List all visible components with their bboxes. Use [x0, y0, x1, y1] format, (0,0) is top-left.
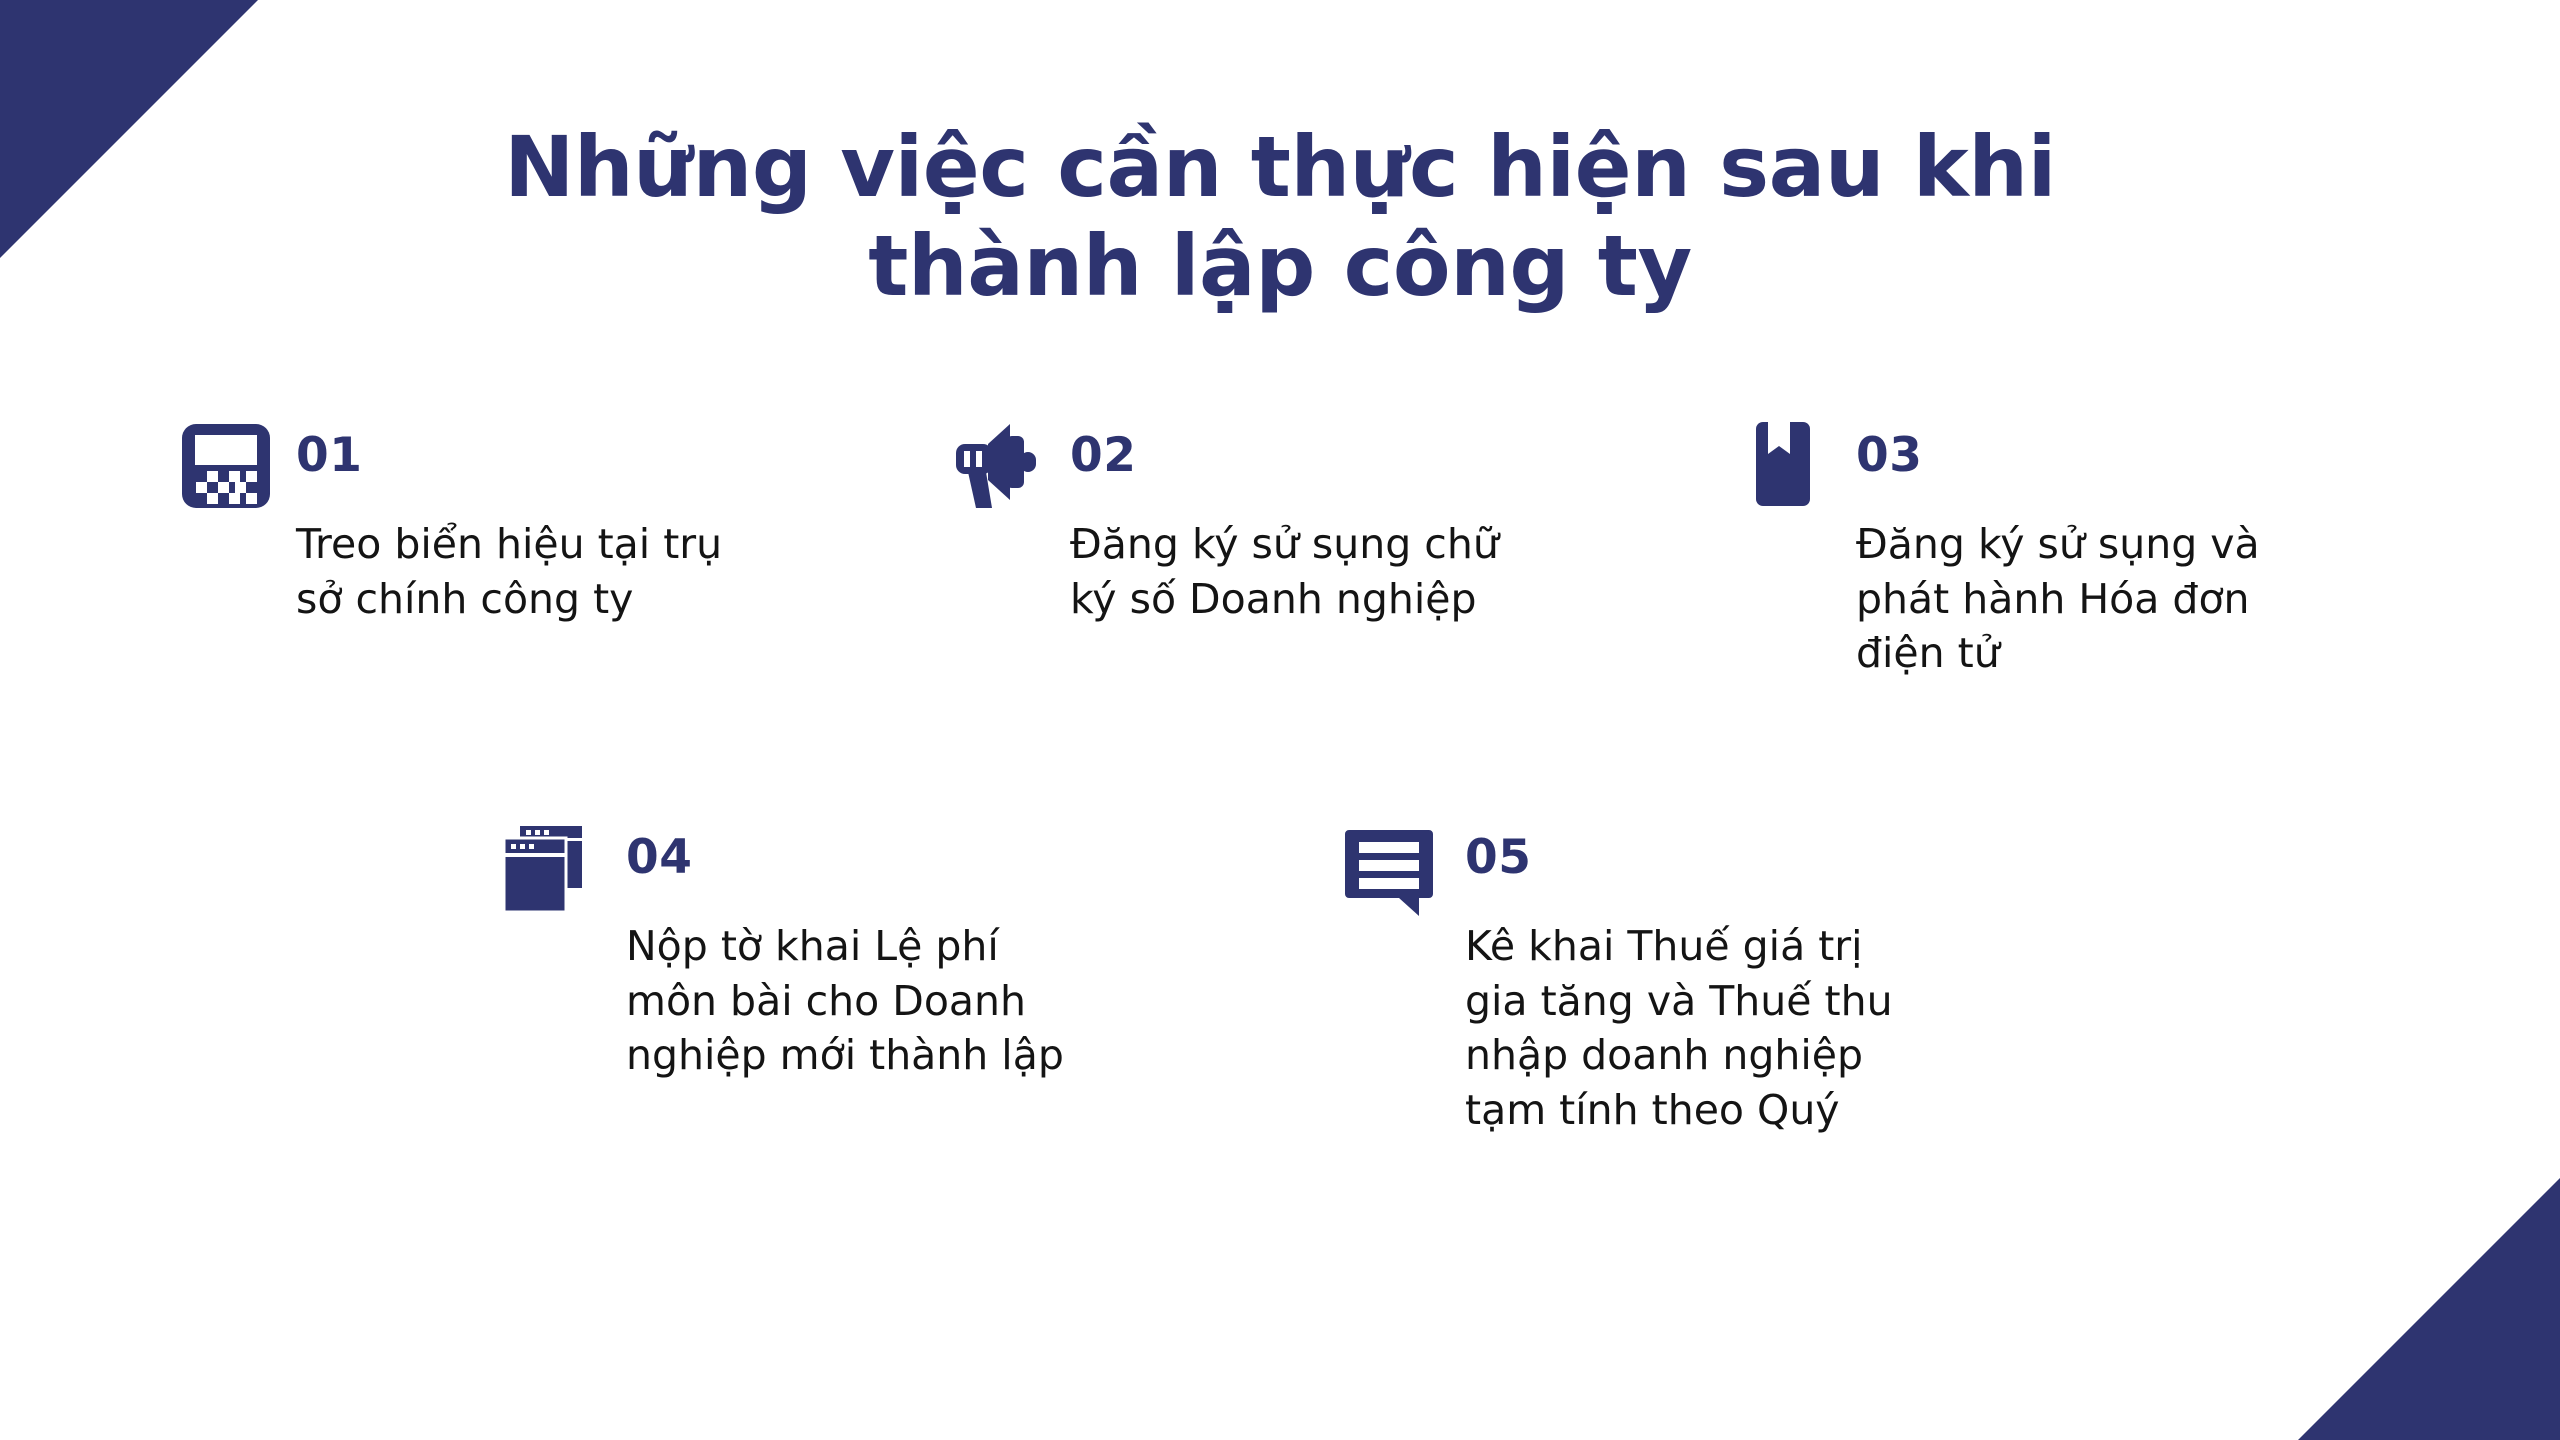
page-title: Những việc cần thực hiện sau khi thành l… — [0, 118, 2560, 316]
list-item-number: 03 — [1856, 432, 2298, 479]
list-item-text: Đăng ký sử sụng và phát hành Hóa đơn điệ… — [1856, 517, 2298, 681]
list-item: 03 Đăng ký sử sụng và phát hành Hóa đơn … — [1738, 418, 2298, 681]
list-item-text: Nộp tờ khai Lệ phí môn bài cho Doanh ngh… — [626, 919, 1070, 1083]
list-item-number: 01 — [296, 432, 738, 479]
list-item: 04 Nộp tờ khai Lệ phí môn bài cho Doanh … — [500, 820, 1070, 1083]
list-item-number: 04 — [626, 834, 1070, 881]
bookmark-book-icon — [1738, 418, 1834, 514]
list-item-body: 01 Treo biển hiệu tại trụ sở chính công … — [296, 418, 738, 626]
list-item-body: 05 Kê khai Thuế giá trị gia tăng và Thuế… — [1465, 820, 1925, 1137]
list-item-body: 02 Đăng ký sử sụng chữ ký số Doanh nghiệ… — [1070, 418, 1508, 626]
calculator-keypad-icon — [178, 418, 274, 514]
slide-canvas: Những việc cần thực hiện sau khi thành l… — [0, 0, 2560, 1440]
page-title-line-2: thành lập công ty — [330, 217, 2230, 316]
list-item-text: Treo biển hiệu tại trụ sở chính công ty — [296, 517, 738, 626]
list-item-number: 02 — [1070, 432, 1508, 479]
list-item-body: 04 Nộp tờ khai Lệ phí môn bài cho Doanh … — [626, 820, 1070, 1083]
megaphone-icon — [948, 418, 1044, 514]
list-item-text: Đăng ký sử sụng chữ ký số Doanh nghiệp — [1070, 517, 1508, 626]
stacked-windows-icon — [500, 820, 596, 916]
list-item: 02 Đăng ký sử sụng chữ ký số Doanh nghiệ… — [948, 418, 1508, 626]
list-item-text: Kê khai Thuế giá trị gia tăng và Thuế th… — [1465, 919, 1925, 1137]
list-item: 01 Treo biển hiệu tại trụ sở chính công … — [178, 418, 738, 626]
list-item-body: 03 Đăng ký sử sụng và phát hành Hóa đơn … — [1856, 418, 2298, 681]
speech-bubble-lines-icon — [1345, 820, 1441, 916]
list-item: 05 Kê khai Thuế giá trị gia tăng và Thuế… — [1345, 820, 1925, 1137]
bottom-right-corner-triangle — [2298, 1178, 2560, 1440]
list-item-number: 05 — [1465, 834, 1925, 881]
page-title-line-1: Những việc cần thực hiện sau khi — [330, 118, 2230, 217]
